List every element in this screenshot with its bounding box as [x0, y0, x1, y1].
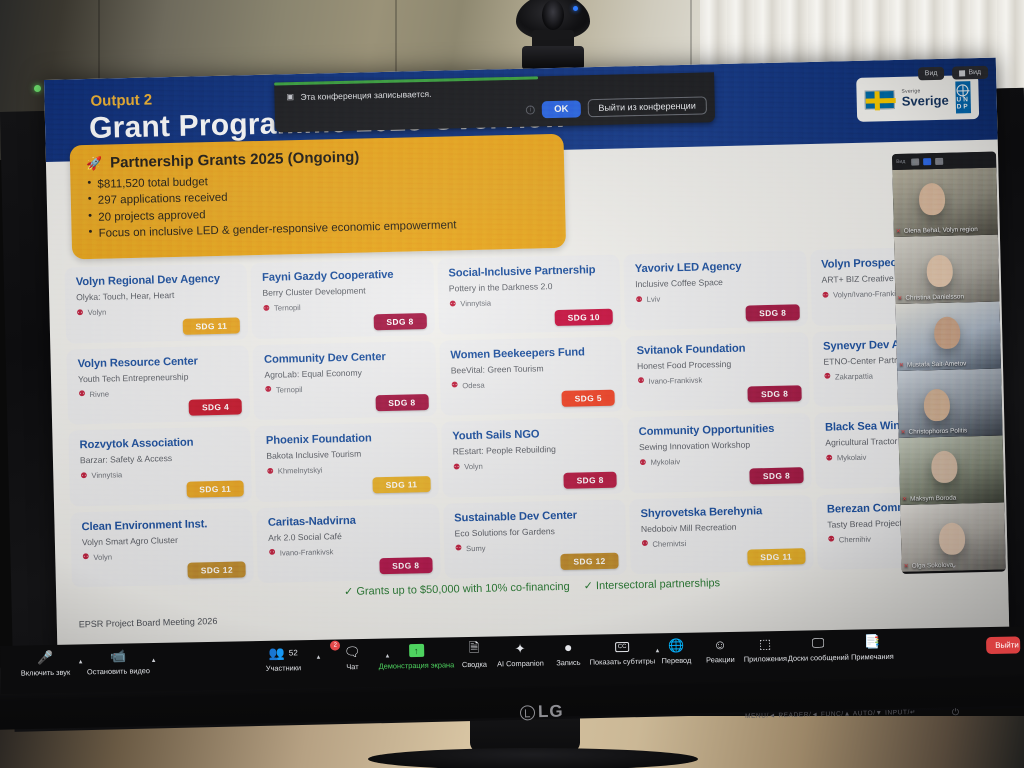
- grant-org-name: Women Beekeepers Fund: [450, 345, 611, 361]
- location-pin-icon: ⚉: [267, 468, 274, 476]
- recording-banner-actions: i OK Выйти из конференции: [526, 96, 707, 118]
- grant-org-name: Sustainable Dev Center: [454, 508, 615, 524]
- location-pin-icon: ⚉: [263, 305, 270, 313]
- grant-card: Shyrovetska BerehyniaNedoboiv Mill Recre…: [629, 495, 813, 575]
- grant-project-name: Youth Tech Entrepreneurship: [78, 370, 239, 384]
- grant-org-name: Shyrovetska Berehynia: [640, 504, 801, 520]
- location-pin-icon: ⚉: [639, 459, 646, 467]
- grant-project-name: Ark 2.0 Social Café: [268, 529, 429, 543]
- sweden-name-label: Sverige: [902, 94, 949, 108]
- apps-icon: ⬚: [759, 635, 772, 652]
- participant-tile[interactable]: ✕Olena Behal, Volyn region: [892, 168, 998, 237]
- sdg-badge: SDG 8: [373, 313, 427, 330]
- sdg-badge: SDG 11: [373, 476, 431, 493]
- location-pin-icon: ⚉: [449, 300, 456, 308]
- grant-region-row: ⚉Ternopil: [265, 382, 426, 395]
- grant-project-name: Barzar: Safety & Access: [80, 452, 241, 466]
- grant-card: Women Beekeepers FundBeeVital: Green Tou…: [439, 336, 623, 416]
- view-label: Вид: [925, 70, 938, 77]
- grant-region: Ternopil: [276, 385, 303, 395]
- location-pin-icon: ⚉: [265, 386, 272, 394]
- video-camera-icon: 📹: [110, 648, 127, 665]
- chevron-up-icon[interactable]: ▴: [152, 656, 156, 664]
- monitor-stand-base: [368, 748, 698, 768]
- participant-name: Maksym Boroda: [910, 495, 956, 503]
- sweden-wordmark: Sverige Sverige: [901, 89, 948, 108]
- grant-region: Ivano-Frankivsk: [649, 375, 703, 385]
- summary-highlight-card: 🚀 Partnership Grants 2025 (Ongoing) $811…: [70, 134, 567, 260]
- location-pin-icon: ⚉: [269, 549, 276, 557]
- lg-brand-text: LG: [538, 701, 564, 722]
- grant-org-name: Community Dev Center: [264, 350, 425, 366]
- sdg-badge: SDG 8: [375, 394, 429, 411]
- grant-region: Vinnytsia: [91, 471, 122, 481]
- gallery-view-button[interactable]: Вид: [952, 66, 988, 80]
- grant-region: Chernihiv: [839, 534, 871, 544]
- leave-button[interactable]: Выйти: [986, 636, 1020, 654]
- grant-card: Youth Sails NGOREstart: People Rebuildin…: [441, 417, 625, 497]
- grant-region: Sumy: [466, 544, 486, 553]
- grant-card: Caritas-NadvirnaArk 2.0 Social Café⚉Ivan…: [257, 503, 441, 583]
- chat-unread-badge: 2: [330, 640, 340, 650]
- slide-output-label: Output 2: [90, 91, 152, 109]
- undp-logo-icon: UNDP: [955, 81, 971, 113]
- participant-head-shape: [926, 255, 953, 288]
- photo-of-monitor-scene: HD 1080P Output 2 Grant Programme 2025 O…: [0, 0, 1024, 768]
- webcam-led: [573, 6, 578, 11]
- sdg-badge: SDG 8: [748, 385, 802, 402]
- grant-region-row: ⚉Ivano-Frankivsk: [637, 373, 798, 386]
- participants-icon: 👥52: [268, 644, 297, 662]
- recording-ok-button[interactable]: OK: [542, 100, 581, 118]
- participant-head-shape: [934, 316, 961, 349]
- grant-region-row: ⚉Vinnytsia: [80, 468, 241, 481]
- grant-region: Volyn: [88, 308, 107, 317]
- grant-region: Mykolaiv: [650, 457, 680, 467]
- grant-region: Ternopil: [274, 303, 301, 313]
- notes-icon: 📑: [864, 633, 881, 650]
- sdg-badge: SDG 11: [747, 548, 805, 565]
- grant-region: Volyn: [93, 552, 112, 561]
- microphone-muted-icon: ✕: [899, 362, 904, 369]
- grant-condition: ✓ Intersectoral partnerships: [584, 577, 721, 592]
- microphone-muted-icon: 🎤: [37, 649, 54, 666]
- recording-notice-banner: ▣ Эта конференция записывается. i OK Вый…: [274, 72, 715, 132]
- grant-org-name: Volyn Regional Dev Agency: [76, 273, 237, 289]
- sdg-badge: SDG 4: [189, 398, 243, 415]
- grant-region-row: ⚉Ternopil: [263, 300, 424, 313]
- grant-org-name: Rozvytok Association: [79, 435, 240, 451]
- speaker-view-icon[interactable]: [911, 158, 919, 165]
- grant-org-name: Volyn Resource Center: [78, 354, 239, 370]
- grant-project-name: BeeVital: Green Tourism: [451, 362, 612, 376]
- microphone-muted-icon: ✕: [896, 228, 901, 235]
- grant-region-row: ⚉Sumy: [455, 540, 616, 553]
- location-pin-icon: ⚉: [826, 454, 833, 462]
- monitor-screen: Output 2 Grant Programme 2025 Overview S…: [44, 58, 1009, 660]
- grant-project-name: Sewing Innovation Workshop: [639, 439, 800, 453]
- participant-head-shape: [919, 183, 946, 216]
- location-pin-icon: ⚉: [455, 545, 462, 553]
- grant-region-row: ⚉Volyn: [453, 459, 614, 472]
- grant-org-name: Svitanok Foundation: [637, 341, 798, 357]
- grant-org-name: Caritas-Nadvirna: [268, 513, 429, 529]
- location-pin-icon: ⚉: [76, 309, 83, 317]
- location-pin-icon: ⚉: [635, 296, 642, 304]
- grant-region: Ivano-Frankivsk: [280, 547, 334, 557]
- gallery-layout-icon[interactable]: [923, 158, 931, 165]
- grant-project-name: Olyka: Touch, Hear, Heart: [76, 289, 237, 303]
- leave-meeting-button[interactable]: Выйти из конференции: [587, 96, 707, 117]
- slide-footer-note: EPSR Project Board Meeting 2026: [79, 616, 218, 629]
- recording-message: Эта конференция записывается.: [300, 89, 431, 102]
- sdg-badge: SDG 8: [379, 557, 433, 574]
- info-icon[interactable]: i: [526, 105, 535, 114]
- location-pin-icon: ⚉: [80, 472, 87, 480]
- grant-card: Rozvytok AssociationBarzar: Safety & Acc…: [68, 426, 252, 506]
- grant-project-name: Berry Cluster Development: [262, 284, 423, 298]
- location-pin-icon: ⚉: [82, 553, 89, 561]
- sdg-badge: SDG 11: [186, 480, 244, 497]
- sdg-badge: SDG 12: [188, 561, 247, 578]
- donor-logo-block: Sverige Sverige UNDP: [856, 75, 979, 122]
- grant-project-name: AgroLab: Equal Economy: [264, 366, 425, 380]
- participant-tile[interactable]: ✕Christophoros Politis: [897, 369, 1003, 438]
- grant-card: Sustainable Dev CenterEco Solutions for …: [443, 499, 627, 579]
- summary-bullet-list: $811,520 total budget297 applications re…: [86, 166, 549, 242]
- sweden-flag-icon: [864, 89, 894, 109]
- grant-project-name: Inclusive Coffee Space: [635, 276, 796, 290]
- view-button[interactable]: Вид: [918, 67, 945, 81]
- grant-card: Svitanok FoundationHonest Food Processin…: [625, 332, 809, 412]
- grant-project-name: Honest Food Processing: [637, 357, 798, 371]
- grant-org-name: Clean Environment Inst.: [81, 517, 242, 533]
- grant-project-name: Volyn Smart Agro Cluster: [82, 533, 243, 547]
- view-controls-group[interactable]: Вид Вид: [918, 66, 989, 81]
- location-pin-icon: ⚉: [78, 390, 85, 398]
- grant-region: Mykolaiv: [837, 453, 867, 463]
- grid-layout-icon[interactable]: [935, 157, 943, 164]
- grant-region: Rivne: [89, 389, 109, 398]
- microphone-muted-icon: ✕: [897, 295, 902, 302]
- grant-card: Social-Inclusive PartnershipPottery in t…: [437, 254, 621, 334]
- record-icon: ⏺: [565, 639, 572, 656]
- grant-region: Chernivtsi: [652, 539, 686, 549]
- lg-brand-logo: LG: [520, 701, 564, 722]
- monitor-power-led: [34, 85, 41, 92]
- grant-region-row: ⚉Ivano-Frankivsk: [268, 545, 429, 558]
- participant-head-shape: [939, 522, 966, 555]
- undp-letters: UNDP: [956, 97, 970, 111]
- toolbar-label: Примечания: [851, 652, 894, 662]
- toolbar-label: Остановить видео: [87, 666, 150, 676]
- grant-condition: ✓ Grants up to $50,000 with 10% co-finan…: [344, 581, 570, 598]
- toolbar-label: Участники: [266, 663, 301, 673]
- undp-globe-icon: [957, 84, 969, 96]
- participant-tile[interactable]: ✕Mustafa Sait-Ametov: [896, 302, 1002, 371]
- grant-project-name: Eco Solutions for Gardens: [454, 524, 615, 538]
- participant-head-shape: [931, 451, 958, 484]
- whiteboard-icon: 🖵: [812, 634, 825, 651]
- participant-filmstrip[interactable]: Вид ✕Olena Behal, Volyn region✕Christina…: [892, 152, 1006, 574]
- toolbar-video-camera[interactable]: 📹Остановить видео▴: [75, 647, 162, 677]
- grant-org-name: Yavoriv LED Agency: [635, 259, 796, 275]
- grant-card: Community OpportunitiesSewing Innovation…: [627, 413, 811, 493]
- participant-name: Christina Danielsson: [905, 293, 964, 301]
- toolbar-label: Чат: [346, 662, 358, 671]
- grant-region: Lviv: [647, 295, 661, 304]
- grant-org-name: Youth Sails NGO: [452, 427, 613, 443]
- participant-name-row: ✕Maksym Boroda: [902, 495, 956, 503]
- microphone-muted-icon: ✕: [902, 496, 907, 503]
- grant-card: Volyn Resource CenterYouth Tech Entrepre…: [66, 345, 250, 425]
- grant-org-name: Social-Inclusive Partnership: [448, 264, 609, 280]
- recording-camera-icon: ▣: [286, 92, 294, 101]
- participant-tile[interactable]: ✕Christina Danielsson: [894, 235, 1000, 304]
- grant-region-row: ⚉Mykolaiv: [639, 455, 800, 468]
- location-pin-icon: ⚉: [641, 540, 648, 548]
- participants-count: 52: [289, 648, 298, 657]
- location-pin-icon: ⚉: [824, 373, 831, 381]
- location-pin-icon: ⚉: [453, 463, 460, 471]
- grant-project-name: Nedoboiv Mill Recreation: [641, 520, 802, 534]
- sdg-badge: SDG 5: [562, 390, 616, 407]
- grant-org-name: Phoenix Foundation: [266, 431, 427, 447]
- location-pin-icon: ⚉: [637, 377, 644, 385]
- participant-name: Christophoros Politis: [908, 427, 967, 435]
- grant-region-row: ⚉Khmelnytskyi: [267, 463, 428, 476]
- sdg-badge: SDG 8: [750, 467, 804, 484]
- grant-card: Volyn Regional Dev AgencyOlyka: Touch, H…: [64, 263, 248, 343]
- rocket-icon: 🚀: [86, 155, 103, 171]
- grant-project-name: Pottery in the Darkness 2.0: [449, 280, 610, 294]
- grant-region-row: ⚉Rivne: [78, 386, 239, 399]
- filmstrip-tiles: ✕Olena Behal, Volyn region✕Christina Dan…: [892, 168, 1005, 572]
- grant-region: Volyn: [464, 462, 483, 471]
- grant-org-name: Community Opportunities: [639, 422, 800, 438]
- grant-region: Khmelnytskyi: [278, 466, 323, 476]
- power-button-icon[interactable]: ⏻: [952, 707, 959, 718]
- toolbar-label: Запись: [556, 658, 580, 667]
- sdg-badge: SDG 10: [555, 308, 614, 325]
- webcam-lens: [542, 0, 564, 30]
- location-pin-icon: ⚉: [822, 291, 829, 299]
- grant-card: Fayni Gazdy CooperativeBerry Cluster Dev…: [251, 259, 435, 339]
- webcam-clip-foot: [522, 46, 584, 70]
- microphone-muted-icon: ✕: [900, 429, 905, 436]
- grant-card: Phoenix FoundationBakota Inclusive Touri…: [255, 422, 439, 502]
- participant-name: Mustafa Sait-Ametov: [907, 360, 966, 368]
- grant-org-name: Fayni Gazdy Cooperative: [262, 268, 423, 284]
- grant-card: Clean Environment Inst.Volyn Smart Agro …: [70, 508, 254, 588]
- gallery-view-label: Вид: [968, 69, 981, 76]
- grant-region-row: ⚉Odesa: [451, 378, 612, 391]
- grant-project-name: Bakota Inclusive Tourism: [266, 447, 427, 461]
- chat-icon: 🗨2: [344, 643, 361, 660]
- grant-region: Vinnytsia: [460, 299, 491, 309]
- grant-card: Yavoriv LED AgencyInclusive Coffee Space…: [623, 250, 807, 330]
- closed-captions-icon: CC: [615, 638, 630, 655]
- gallery-view-icon: [959, 70, 965, 76]
- grant-region-row: ⚉Chernivtsi: [641, 536, 802, 549]
- summary-heading: Partnership Grants 2025 (Ongoing): [110, 149, 360, 172]
- sdg-badge: SDG 8: [746, 304, 800, 321]
- participant-head-shape: [924, 389, 951, 422]
- grant-region-row: ⚉Vinnytsia: [449, 296, 610, 309]
- participant-tile[interactable]: ✕Maksym Boroda: [899, 436, 1005, 505]
- grant-region-row: ⚉Volyn: [76, 305, 237, 318]
- webcam-device: HD 1080P: [516, 0, 590, 78]
- grant-project-name: REstart: People Rebuilding: [453, 443, 614, 457]
- grant-card-grid: Volyn Regional Dev AgencyOlyka: Touch, H…: [64, 246, 999, 588]
- sdg-badge: SDG 8: [563, 471, 617, 488]
- lg-ring-icon: [520, 705, 535, 720]
- location-pin-icon: ⚉: [828, 536, 835, 544]
- grant-region-row: ⚉Volyn: [82, 549, 243, 562]
- grant-region: Odesa: [462, 381, 485, 391]
- toolbar-notes[interactable]: 📑Примечания: [829, 632, 916, 662]
- grant-region: Zakarpattia: [835, 371, 873, 381]
- sdg-badge: SDG 11: [182, 317, 240, 334]
- sdg-badge: SDG 12: [560, 553, 619, 570]
- chevron-down-icon[interactable]: ⌄: [902, 558, 1006, 571]
- share-screen-icon: ↑: [409, 642, 424, 659]
- filmstrip-view-label: Вид: [896, 159, 905, 165]
- grant-region-row: ⚉Lviv: [635, 292, 796, 305]
- toolbar-label: Включить звук: [21, 668, 70, 678]
- grant-card: Community Dev CenterAgroLab: Equal Econo…: [253, 340, 437, 420]
- location-pin-icon: ⚉: [451, 382, 458, 390]
